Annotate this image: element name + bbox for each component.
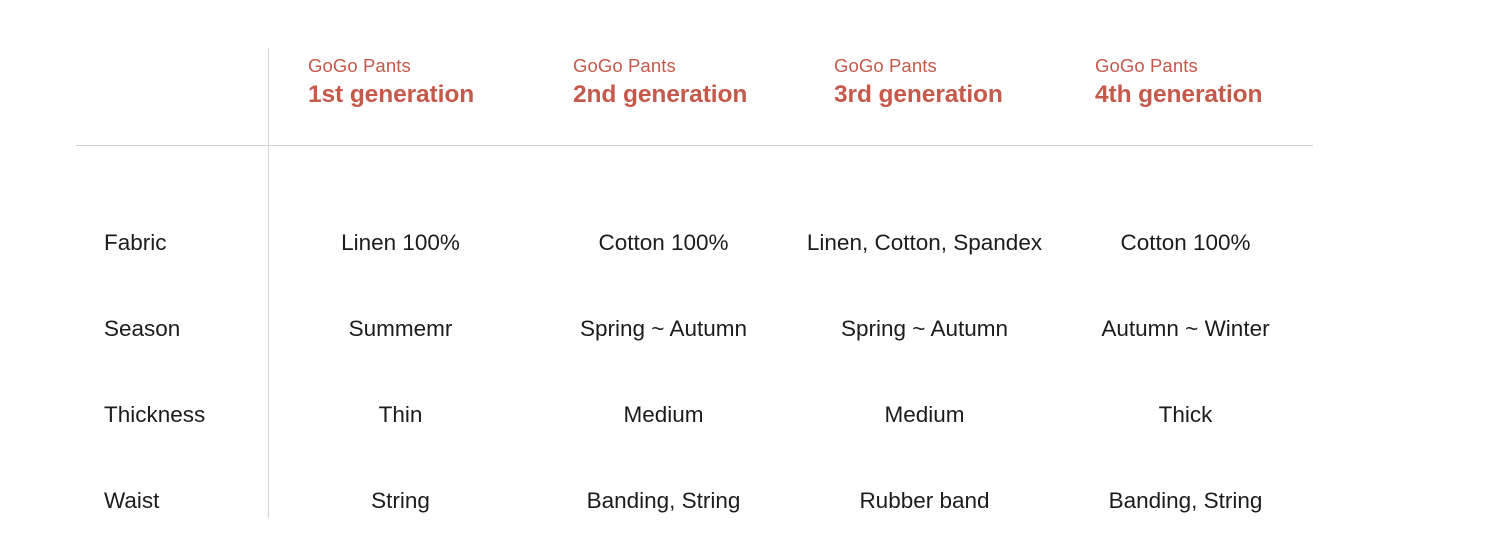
cell-fabric-gen3: Linen, Cotton, Spandex	[794, 200, 1055, 286]
cell-fabric-gen2: Cotton 100%	[533, 200, 794, 286]
row-label-thickness: Thickness	[0, 372, 268, 458]
column-brand-label-2: GoGo Pants	[573, 54, 794, 77]
column-brand-label-3: GoGo Pants	[834, 54, 1055, 77]
column-brand-label-4: GoGo Pants	[1095, 54, 1316, 77]
cell-thickness-gen1: Thin	[268, 372, 533, 458]
cell-waist-gen1: String	[268, 458, 533, 543]
row-label-fabric: Fabric	[0, 200, 268, 286]
table-corner-cell	[0, 48, 268, 145]
cell-season-gen3: Spring ~ Autumn	[794, 286, 1055, 372]
cell-season-gen2: Spring ~ Autumn	[533, 286, 794, 372]
column-generation-label-3: 3rd generation	[834, 79, 1055, 111]
cell-waist-gen2: Banding, String	[533, 458, 794, 543]
cell-season-gen1: Summemr	[268, 286, 533, 372]
column-header-generation-3: GoGo Pants 3rd generation	[794, 48, 1055, 145]
column-brand-label-1: GoGo Pants	[308, 54, 533, 77]
cell-waist-gen3: Rubber band	[794, 458, 1055, 543]
row-label-waist: Waist	[0, 458, 268, 543]
column-header-generation-1: GoGo Pants 1st generation	[268, 48, 533, 145]
comparison-table: GoGo Pants 1st generation GoGo Pants 2nd…	[0, 0, 1500, 543]
column-header-generation-2: GoGo Pants 2nd generation	[533, 48, 794, 145]
cell-waist-gen4: Banding, String	[1055, 458, 1316, 543]
cell-fabric-gen4: Cotton 100%	[1055, 200, 1316, 286]
cell-thickness-gen3: Medium	[794, 372, 1055, 458]
column-generation-label-2: 2nd generation	[573, 79, 794, 111]
column-generation-label-1: 1st generation	[308, 79, 533, 111]
comparison-table-screen: GoGo Pants 1st generation GoGo Pants 2nd…	[0, 0, 1500, 543]
row-label-season: Season	[0, 286, 268, 372]
cell-season-gen4: Autumn ~ Winter	[1055, 286, 1316, 372]
column-generation-label-4: 4th generation	[1095, 79, 1316, 111]
cell-thickness-gen2: Medium	[533, 372, 794, 458]
column-header-generation-4: GoGo Pants 4th generation	[1055, 48, 1316, 145]
cell-fabric-gen1: Linen 100%	[268, 200, 533, 286]
cell-thickness-gen4: Thick	[1055, 372, 1316, 458]
